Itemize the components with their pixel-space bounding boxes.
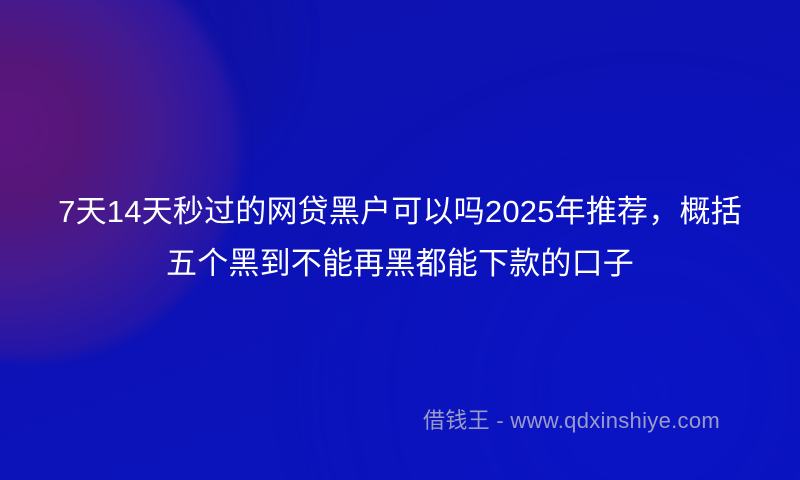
watermark-credit: 借钱王 - www.qdxinshiye.com [423,406,720,436]
banner-image: 7天14天秒过的网贷黑户可以吗2025年推荐，概括五个黑到不能再黑都能下款的口子… [0,0,800,480]
headline-title: 7天14天秒过的网贷黑户可以吗2025年推荐，概括五个黑到不能再黑都能下款的口子 [0,186,800,290]
